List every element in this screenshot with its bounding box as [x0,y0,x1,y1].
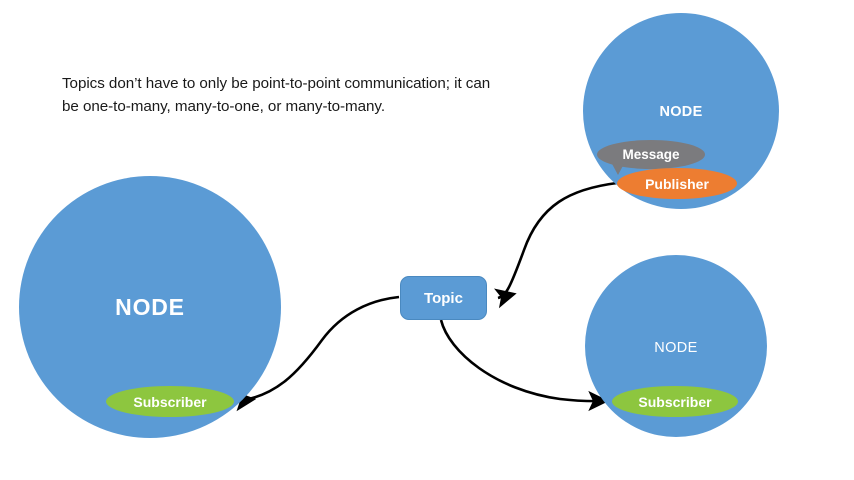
subscriber-pill-right-label: Subscriber [638,394,711,410]
subscriber-pill-left[interactable]: Subscriber [106,386,234,417]
message-bubble-label: Message [622,147,679,162]
topic-box-label: Topic [424,290,463,307]
arrow-publisher-to-topic [498,183,617,298]
message-bubble-tail [611,162,625,175]
topic-box[interactable]: Topic [400,276,487,320]
node-subscriber-left-label: NODE [19,294,281,321]
publisher-pill[interactable]: Publisher [617,168,737,199]
node-publisher-label: NODE [581,104,781,120]
diagram-canvas: Topics don’t have to only be point-to-po… [0,0,854,480]
arrow-topic-to-subscriber-right [441,320,607,401]
node-subscriber-right-label: NODE [585,340,767,356]
publisher-pill-label: Publisher [645,176,709,192]
subscriber-pill-right[interactable]: Subscriber [612,386,738,417]
subscriber-pill-left-label: Subscriber [133,394,206,410]
